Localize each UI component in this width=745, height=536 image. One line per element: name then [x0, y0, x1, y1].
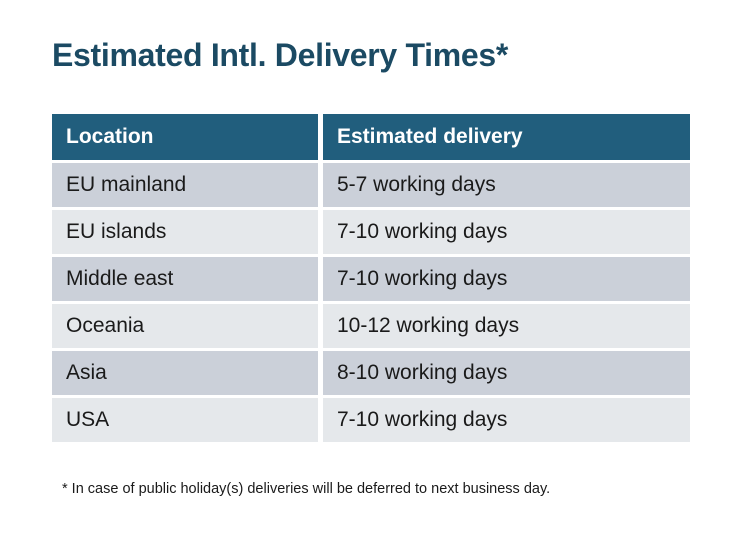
cell-location: Asia — [52, 351, 318, 395]
table-row: USA 7-10 working days — [52, 398, 690, 442]
cell-location: Oceania — [52, 304, 318, 348]
cell-location: EU mainland — [52, 163, 318, 207]
delivery-times-page: Estimated Intl. Delivery Times* Location… — [0, 0, 745, 536]
cell-delivery: 8-10 working days — [323, 351, 690, 395]
cell-delivery: 10-12 working days — [323, 304, 690, 348]
cell-delivery: 5-7 working days — [323, 163, 690, 207]
cell-delivery: 7-10 working days — [323, 257, 690, 301]
column-header-estimated-delivery: Estimated delivery — [323, 114, 690, 160]
table-row: EU mainland 5-7 working days — [52, 163, 690, 207]
cell-location: USA — [52, 398, 318, 442]
table-row: EU islands 7-10 working days — [52, 210, 690, 254]
cell-delivery: 7-10 working days — [323, 210, 690, 254]
estimated-delivery-table: Location Estimated delivery EU mainland … — [52, 114, 690, 442]
table-row: Asia 8-10 working days — [52, 351, 690, 395]
cell-location: EU islands — [52, 210, 318, 254]
column-header-location: Location — [52, 114, 318, 160]
cell-location: Middle east — [52, 257, 318, 301]
table-header-row: Location Estimated delivery — [52, 114, 690, 160]
footnote-text: * In case of public holiday(s) deliverie… — [62, 481, 550, 497]
table-row: Middle east 7-10 working days — [52, 257, 690, 301]
cell-delivery: 7-10 working days — [323, 398, 690, 442]
table-row: Oceania 10-12 working days — [52, 304, 690, 348]
page-title: Estimated Intl. Delivery Times* — [52, 37, 508, 74]
